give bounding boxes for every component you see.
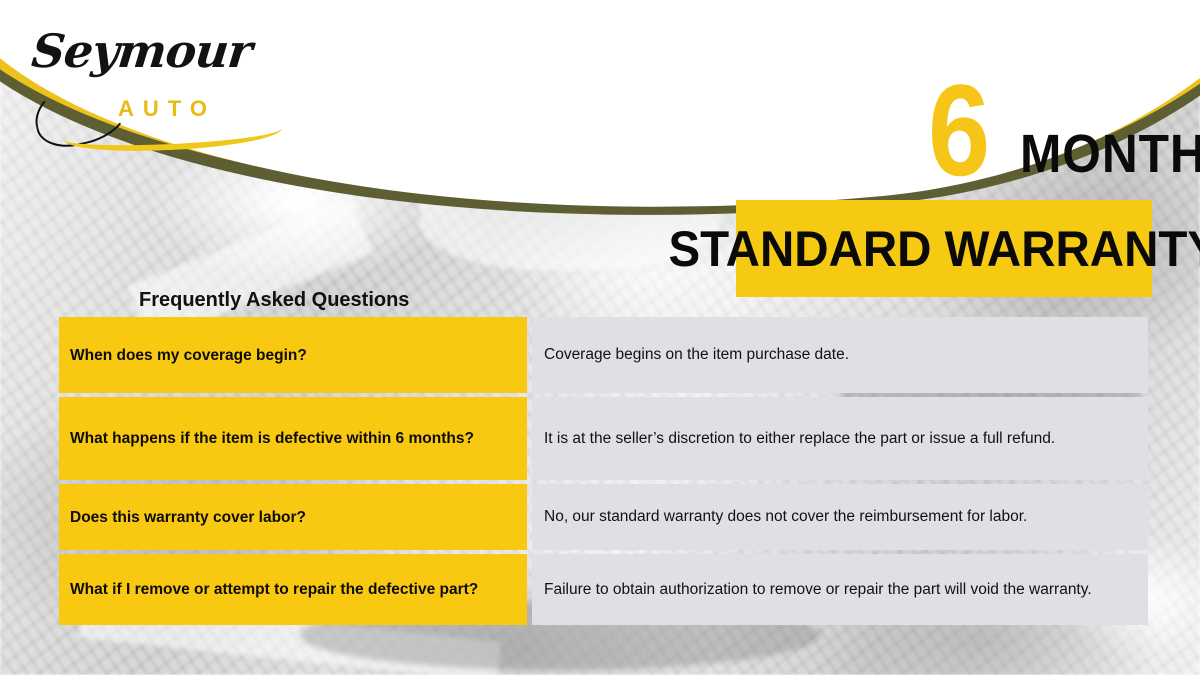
faq-answer-text: It is at the seller’s discretion to eith… xyxy=(544,428,1136,450)
faq-question-text: What happens if the item is defective wi… xyxy=(70,428,474,449)
faq-question-text: What if I remove or attempt to repair th… xyxy=(70,579,478,600)
faq-answer-cell: Coverage begins on the item purchase dat… xyxy=(532,317,1148,393)
faq-answer-text: Coverage begins on the item purchase dat… xyxy=(544,344,1136,366)
table-row: What happens if the item is defective wi… xyxy=(59,397,1148,480)
faq-question-cell: Does this warranty cover labor? xyxy=(59,484,527,550)
warranty-slide: Seymour AUTO 6 MONTH STANDARD WARRANTY F… xyxy=(0,0,1200,675)
faq-answer-text: Failure to obtain authorization to remov… xyxy=(544,579,1136,601)
faq-question-text: Does this warranty cover labor? xyxy=(70,507,306,528)
standard-warranty-banner: STANDARD WARRANTY xyxy=(736,200,1152,297)
faq-answer-cell: No, our standard warranty does not cover… xyxy=(532,484,1148,550)
faq-question-text: When does my coverage begin? xyxy=(70,345,307,366)
table-row: When does my coverage begin? Coverage be… xyxy=(59,317,1148,393)
duration-unit: MONTH xyxy=(1020,128,1200,180)
faq-heading: Frequently Asked Questions xyxy=(139,289,409,312)
table-row: Does this warranty cover labor? No, our … xyxy=(59,484,1148,550)
faq-question-cell: What happens if the item is defective wi… xyxy=(59,397,527,480)
faq-answer-text: No, our standard warranty does not cover… xyxy=(544,506,1136,528)
faq-answer-cell: Failure to obtain authorization to remov… xyxy=(532,554,1148,625)
faq-table: When does my coverage begin? Coverage be… xyxy=(59,317,1148,625)
duration-number: 6 xyxy=(928,70,988,190)
faq-answer-cell: It is at the seller’s discretion to eith… xyxy=(532,397,1148,480)
banner-title: STANDARD WARRANTY xyxy=(669,224,1200,274)
seymour-auto-logo[interactable]: Seymour AUTO xyxy=(26,18,276,133)
faq-question-cell: When does my coverage begin? xyxy=(59,317,527,393)
logo-wordmark: Seymour xyxy=(29,24,254,78)
table-row: What if I remove or attempt to repair th… xyxy=(59,554,1148,625)
faq-question-cell: What if I remove or attempt to repair th… xyxy=(59,554,527,625)
